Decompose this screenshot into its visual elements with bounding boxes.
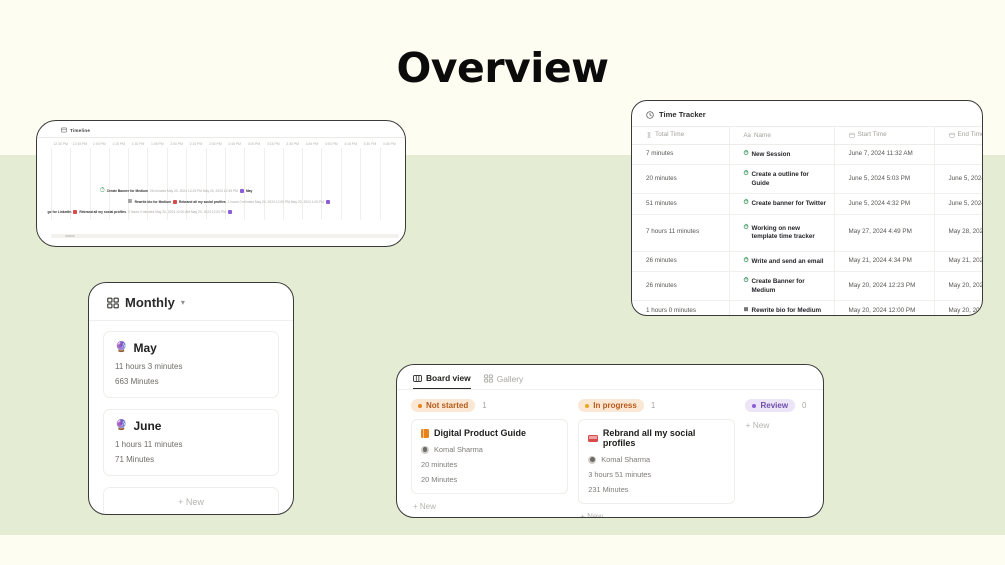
cell-end-time xyxy=(934,144,983,165)
month-icon xyxy=(240,189,244,193)
cell-name: ⏱Create banner for Twitter xyxy=(729,194,834,215)
board-icon xyxy=(413,374,422,383)
cell-name: ⏱Write and send an email xyxy=(729,251,834,272)
cell-name: ≣Rewrite bio for Medium xyxy=(729,301,834,317)
timeline-tick: 4:30 PM xyxy=(360,138,379,146)
cell-start-time: May 27, 2024 4:49 PM xyxy=(834,214,934,251)
timeline-bar-name: Create Banner for Medium xyxy=(107,189,148,193)
timeline-tick: 1:15 PM xyxy=(109,138,128,146)
month-name: May xyxy=(133,341,156,355)
timeline-bar[interactable]: ⏱ Create Banner for Medium 26 minutes Ma… xyxy=(100,188,253,194)
column-header-total-time[interactable]: Total Time xyxy=(632,127,729,145)
monthly-new-button[interactable]: + New xyxy=(103,487,279,515)
timeline-header: Timeline xyxy=(37,121,405,137)
column-count: 1 xyxy=(482,401,486,410)
board-column-review: Review 0 + New xyxy=(745,399,823,518)
status-label: Review xyxy=(760,401,788,410)
card-minutes: 231 Minutes xyxy=(588,485,628,494)
column-header-label: Name xyxy=(754,132,771,139)
timeline-bar-name-2: Rebrand all my social profiles xyxy=(179,200,226,204)
column-new-button[interactable]: + New xyxy=(411,494,568,511)
tab-gallery[interactable]: Gallery xyxy=(484,374,524,389)
cell-total-time: 20 minutes xyxy=(632,165,729,194)
timeline-tick: 3:00 PM xyxy=(244,138,263,146)
time-tracker-table: Total Time Aa Name xyxy=(632,126,983,316)
cell-total-time: 51 minutes xyxy=(632,194,729,215)
list-icon: ≣ xyxy=(744,307,749,313)
cell-total-time: 1 hours 0 minutes xyxy=(632,301,729,317)
status-dot-icon xyxy=(752,404,756,408)
table-row[interactable]: 7 minutes ⏱New Session June 7, 2024 11:3… xyxy=(632,144,983,165)
monthly-header[interactable]: Monthly ▾ xyxy=(89,283,293,321)
timeline-bar-prefix: go for LinkedIn xyxy=(48,210,72,214)
board-columns: Not started 1 Digital Product Guide Koma… xyxy=(397,390,823,518)
timeline-tick: 2:30 PM xyxy=(206,138,225,146)
column-count: 1 xyxy=(651,401,655,410)
clock-icon xyxy=(646,111,654,119)
month-name: June xyxy=(133,419,161,433)
tab-label: Gallery xyxy=(497,374,524,384)
month-duration: 1 hours 11 minutes xyxy=(115,440,267,449)
monitor-icon xyxy=(173,200,177,204)
cell-total-time: 26 minutes xyxy=(632,251,729,272)
overview-screen: Overview Timeline 12:30 PM 12:45 PM 1:00… xyxy=(0,0,1005,565)
timeline-bar[interactable]: ≣ Rewrite bio for Medium Rebrand all my … xyxy=(128,199,330,205)
table-row[interactable]: 51 minutes ⏱Create banner for Twitter Ju… xyxy=(632,194,983,215)
list-item[interactable]: 🔮 May 11 hours 3 minutes 663 Minutes xyxy=(103,331,279,398)
list-item[interactable]: 🔮 June 1 hours 11 minutes 71 Minutes xyxy=(103,409,279,476)
timeline-tick: 2:00 PM xyxy=(167,138,186,146)
column-new-button[interactable]: + New xyxy=(578,504,735,518)
card-duration-row: 20 minutes xyxy=(421,460,558,469)
timeline-scrollbar[interactable] xyxy=(51,234,399,238)
card-minutes-row: 20 Minutes xyxy=(421,475,558,484)
status-label: Not started xyxy=(426,401,468,410)
timeline-tick: 4:45 PM xyxy=(380,138,399,146)
time-tracker-title: Time Tracker xyxy=(659,110,706,119)
plus-icon: + xyxy=(745,420,750,430)
clock-icon: ⏱ xyxy=(744,151,749,157)
card-title: Rebrand all my social profiles xyxy=(603,428,726,448)
avatar xyxy=(421,446,429,454)
cell-end-time: May 20, 2024 xyxy=(934,272,983,301)
card-assignee: Komal Sharma xyxy=(601,455,650,464)
column-new-label: New xyxy=(420,502,436,511)
timeline-bar-tag: May xyxy=(246,189,252,193)
timeline-bar-name: Rewrite bio for Medium xyxy=(135,200,171,204)
monthly-body: 🔮 May 11 hours 3 minutes 663 Minutes 🔮 J… xyxy=(89,321,293,515)
tab-label: Board view xyxy=(426,373,471,383)
board-view-card: Board view Gallery Not started 1 xyxy=(396,364,824,518)
text-aa-icon: Aa xyxy=(744,133,751,139)
cell-total-time: 7 hours 11 minutes xyxy=(632,214,729,251)
column-count: 0 xyxy=(802,401,806,410)
timeline-tick: 1:00 PM xyxy=(90,138,109,146)
cell-start-time: June 5, 2024 5:03 PM xyxy=(834,165,934,194)
month-duration: 11 hours 3 minutes xyxy=(115,362,267,371)
month-icon xyxy=(228,210,232,214)
cell-start-time: June 5, 2024 4:32 PM xyxy=(834,194,934,215)
clock-icon: ⏱ xyxy=(744,278,749,284)
cell-end-time: May 21, 2024 xyxy=(934,251,983,272)
time-tracker-header: Time Tracker xyxy=(632,101,982,126)
table-row[interactable]: 7 hours 11 minutes ⏱Working on new templ… xyxy=(632,214,983,251)
cell-name: ⏱Working on new template time tracker xyxy=(729,214,834,251)
status-dot-icon xyxy=(418,404,422,408)
card-minutes-row: 231 Minutes xyxy=(588,485,725,494)
tab-board-view[interactable]: Board view xyxy=(413,373,471,389)
table-row[interactable]: 26 minutes ⏱Create Banner for Medium May… xyxy=(632,272,983,301)
status-badge[interactable]: In progress xyxy=(578,399,644,412)
cell-start-time: June 7, 2024 11:32 AM xyxy=(834,144,934,165)
status-label: In progress xyxy=(593,401,637,410)
timeline-bar-meta: 1 hours 0 minutes May 20, 2024 12:00 PM … xyxy=(228,200,324,204)
plus-icon: + xyxy=(413,502,418,511)
card-minutes: 20 Minutes xyxy=(421,475,457,484)
table-header-row: Total Time Aa Name xyxy=(632,127,983,145)
column-header-label: Total Time xyxy=(655,131,684,138)
timeline-icon xyxy=(61,127,67,133)
monthly-card: Monthly ▾ 🔮 May 11 hours 3 minutes 663 M… xyxy=(88,282,294,515)
hourglass-icon xyxy=(646,132,652,138)
timeline-grid: ⏱ Create Banner for Medium 26 minutes Ma… xyxy=(51,148,399,220)
clock-icon: ⏱ xyxy=(744,258,749,264)
book-icon xyxy=(421,429,429,438)
board-column-in-progress: In progress 1 Rebrand all my social prof… xyxy=(578,399,745,518)
timeline-tick: 2:45 PM xyxy=(225,138,244,146)
cell-total-time: 26 minutes xyxy=(632,272,729,301)
column-header-start-time[interactable]: Start Time xyxy=(834,127,934,145)
month-minutes: 663 Minutes xyxy=(115,377,267,386)
timeline-bar[interactable]: go for LinkedIn Rebrand all my social pr… xyxy=(48,210,232,214)
cell-start-time: May 21, 2024 4:34 PM xyxy=(834,251,934,272)
column-header-name[interactable]: Aa Name xyxy=(729,127,834,145)
cell-name: ⏱Create a outline for Guide xyxy=(729,165,834,194)
timeline-tick: 4:15 PM xyxy=(341,138,360,146)
plus-icon: + xyxy=(178,497,183,507)
clock-icon: ⏱ xyxy=(744,225,749,231)
page-title: Overview xyxy=(0,44,1005,92)
timeline-tick-row: 12:30 PM 12:45 PM 1:00 PM 1:15 PM 1:30 P… xyxy=(37,137,405,146)
timeline-bar-meta: 2 hours 0 minutes May 20, 2024 10:00 AM … xyxy=(128,210,226,214)
card-duration-row: 3 hours 51 minutes xyxy=(588,470,725,479)
cell-start-time: May 20, 2024 12:23 PM xyxy=(834,272,934,301)
timeline-title: Timeline xyxy=(70,128,90,133)
gallery-grid-icon xyxy=(107,297,119,309)
board-column-not-started: Not started 1 Digital Product Guide Koma… xyxy=(411,399,578,518)
card-title: Digital Product Guide xyxy=(434,428,526,438)
card-duration: 20 minutes xyxy=(421,460,457,469)
time-tracker-card: Time Tracker Total Time xyxy=(631,100,983,316)
cell-end-time: June 5, 2024 5 xyxy=(934,194,983,215)
cell-end-time: June 5, 2024 5 xyxy=(934,165,983,194)
table-row[interactable]: 20 minutes ⏱Create a outline for Guide J… xyxy=(632,165,983,194)
monitor-icon xyxy=(73,210,77,214)
timeline-tick: 1:45 PM xyxy=(148,138,167,146)
calendar-icon xyxy=(849,132,855,138)
table-row[interactable]: 26 minutes ⏱Write and send an email May … xyxy=(632,251,983,272)
clock-icon: ⏱ xyxy=(744,200,749,206)
column-new-button[interactable]: + New xyxy=(745,419,813,430)
table-row[interactable]: 1 hours 0 minutes ≣Rewrite bio for Mediu… xyxy=(632,301,983,317)
board-tabs: Board view Gallery xyxy=(397,365,823,390)
gallery-grid-icon xyxy=(484,374,493,383)
list-icon: ≣ xyxy=(128,199,133,205)
cell-name: ⏱New Session xyxy=(729,144,834,165)
board-card-item[interactable]: Rebrand all my social profiles Komal Sha… xyxy=(578,419,735,504)
timeline-tick: 2:15 PM xyxy=(186,138,205,146)
avatar xyxy=(588,456,596,464)
monthly-new-label: New xyxy=(186,497,204,507)
chevron-down-icon[interactable]: ▾ xyxy=(181,298,185,307)
timeline-tick: 1:30 PM xyxy=(128,138,147,146)
timeline-bar-name: Rebrand all my social profiles xyxy=(79,210,126,214)
column-header-label: End Time xyxy=(958,131,984,138)
status-badge[interactable]: Review xyxy=(745,399,795,412)
clock-icon: ⏱ xyxy=(744,171,749,177)
clock-icon: ⏱ xyxy=(100,188,105,194)
cell-total-time: 7 minutes xyxy=(632,144,729,165)
month-minutes: 71 Minutes xyxy=(115,455,267,464)
column-new-label: New xyxy=(753,420,770,430)
timeline-tick: 4:00 PM xyxy=(322,138,341,146)
monitor-icon xyxy=(588,435,598,442)
monthly-title: Monthly xyxy=(125,295,175,310)
crystal-ball-icon: 🔮 xyxy=(115,343,127,353)
month-icon xyxy=(326,200,330,204)
timeline-tick: 12:45 PM xyxy=(70,138,89,146)
column-new-label: New xyxy=(587,512,603,518)
timeline-bar-meta: 26 minutes May 20, 2024 12:23 PM May 20,… xyxy=(150,189,238,193)
crystal-ball-icon: 🔮 xyxy=(115,421,127,431)
cell-end-time: May 28, 2024 xyxy=(934,214,983,251)
card-duration: 3 hours 51 minutes xyxy=(588,470,651,479)
board-card-item[interactable]: Digital Product Guide Komal Sharma 20 mi… xyxy=(411,419,568,494)
timeline-tick: 12:30 PM xyxy=(51,138,70,146)
timeline-tick: 3:30 PM xyxy=(283,138,302,146)
timeline-tick: 3:45 PM xyxy=(302,138,321,146)
card-assignee: Komal Sharma xyxy=(434,445,483,454)
plus-icon: + xyxy=(580,512,585,518)
column-header-label: Start Time xyxy=(858,131,887,138)
calendar-icon xyxy=(949,132,955,138)
timeline-tick: 3:15 PM xyxy=(264,138,283,146)
column-header-end-time[interactable]: End Time xyxy=(934,127,983,145)
status-dot-icon xyxy=(585,404,589,408)
timeline-card: Timeline 12:30 PM 12:45 PM 1:00 PM 1:15 … xyxy=(36,120,406,247)
status-badge[interactable]: Not started xyxy=(411,399,475,412)
cell-name: ⏱Create Banner for Medium xyxy=(729,272,834,301)
cell-start-time: May 20, 2024 12:00 PM xyxy=(834,301,934,317)
